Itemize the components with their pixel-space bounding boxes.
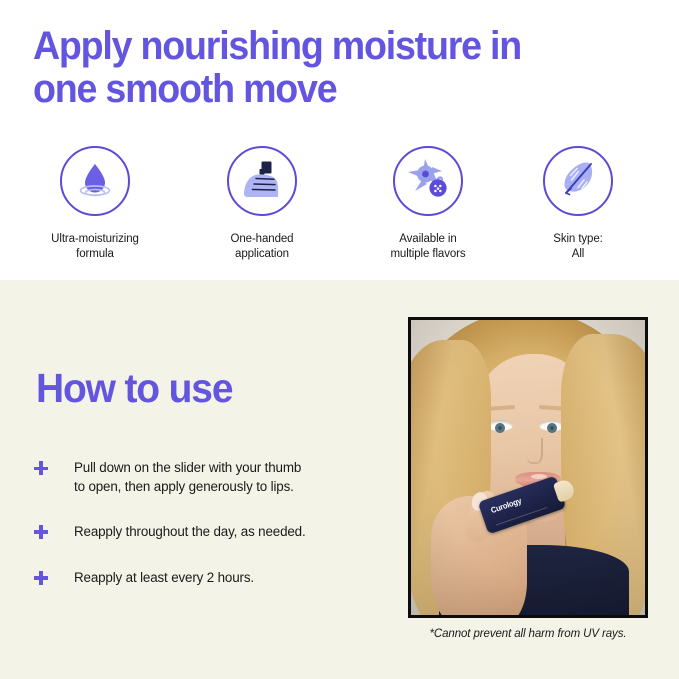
plus-icon — [30, 521, 52, 543]
feature-label: One-handed application — [231, 232, 294, 262]
how-to-use-steps: Pull down on the slider with your thumb … — [30, 458, 380, 590]
feature-label: Ultra-moisturizing formula — [51, 232, 139, 262]
photo-caption: *Cannot prevent all harm from UV rays. — [408, 628, 648, 640]
feature-item-multiple-flavors: Available in multiple flavors — [353, 146, 503, 262]
feature-item-ultra-moisturizing: Ultra-moisturizing formula — [20, 146, 170, 262]
feature-icon-circle — [227, 146, 297, 216]
page-headline: Apply nourishing moisture in one smooth … — [33, 25, 597, 111]
how-to-use-title: How to use — [36, 368, 232, 409]
feature-icon-circle — [543, 146, 613, 216]
feature-icon-circle — [60, 146, 130, 216]
step-item: Reapply at least every 2 hours. — [30, 568, 380, 590]
feature-label: Skin type: All — [553, 232, 603, 262]
feature-icon-circle — [393, 146, 463, 216]
feature-item-one-handed: One-handed application — [187, 146, 337, 262]
feature-icon-row: Ultra-moisturizing formula One-handed ap… — [0, 146, 679, 271]
plus-icon — [30, 457, 52, 479]
step-text: Reapply at least every 2 hours. — [74, 568, 254, 587]
how-to-use-section: How to use Pull down on the slider with … — [0, 280, 679, 679]
step-text: Reapply throughout the day, as needed. — [74, 522, 306, 541]
feather-icon — [554, 155, 602, 208]
hero-section: Apply nourishing moisture in one smooth … — [0, 0, 679, 280]
feature-item-skin-type: Skin type: All — [503, 146, 653, 262]
water-droplet-icon — [72, 156, 118, 207]
step-item: Reapply throughout the day, as needed. — [30, 522, 380, 544]
photo-vignette — [411, 320, 645, 615]
flower-berry-icon — [404, 155, 452, 208]
step-text: Pull down on the slider with your thumb … — [74, 458, 301, 497]
feature-label: Available in multiple flavors — [390, 232, 465, 262]
model-applying-lip-balm-photo: Curology — [408, 317, 648, 618]
hand-holding-balm-icon — [238, 155, 286, 208]
step-item: Pull down on the slider with your thumb … — [30, 458, 380, 497]
plus-icon — [30, 567, 52, 589]
